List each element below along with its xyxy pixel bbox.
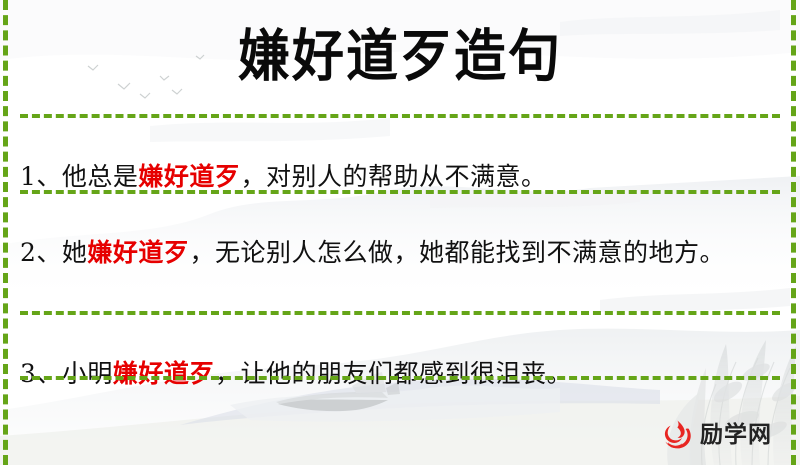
watermark-logo: 励学网: [660, 418, 772, 452]
list-item: 3、小明嫌好道歹，让他的朋友们都感到很沮丧。: [20, 352, 760, 395]
item-text-after: ，无论别人怎么做，她都能找到不满意的地方。: [189, 238, 725, 267]
item-text-before: 小明: [62, 359, 113, 388]
separator-line: [20, 114, 780, 118]
list-item: 2、她嫌好道歹，无论别人怎么做，她都能找到不满意的地方。: [20, 231, 760, 274]
separator-line: [20, 190, 780, 194]
frame-border-left: [3, 0, 8, 465]
item-number: 2、: [20, 238, 62, 267]
frame-border-right: [791, 0, 796, 465]
item-text-after: ，让他的朋友们都感到很沮丧。: [215, 359, 572, 388]
separator-line: [20, 311, 780, 315]
page-title: 嫌好道歹造句: [238, 29, 562, 85]
item-number: 3、: [20, 359, 62, 388]
highlighted-idiom: 嫌好道歹: [113, 359, 215, 388]
item-text-after: ，对别人的帮助从不满意。: [240, 162, 546, 191]
item-text-before: 他总是: [62, 162, 139, 191]
worksheet-page: 嫌好道歹造句 1、他总是嫌好道歹，对别人的帮助从不满意。 2、她嫌好道歹，无论别…: [0, 0, 800, 465]
item-text-before: 她: [62, 238, 88, 267]
separator-line: [20, 376, 780, 380]
highlighted-idiom: 嫌好道歹: [138, 162, 240, 191]
flame-swirl-logo-icon: [660, 418, 694, 452]
highlighted-idiom: 嫌好道歹: [87, 238, 189, 267]
watermark-label: 励学网: [700, 424, 772, 447]
title-area: 嫌好道歹造句: [0, 0, 800, 114]
item-number: 1、: [20, 162, 62, 191]
